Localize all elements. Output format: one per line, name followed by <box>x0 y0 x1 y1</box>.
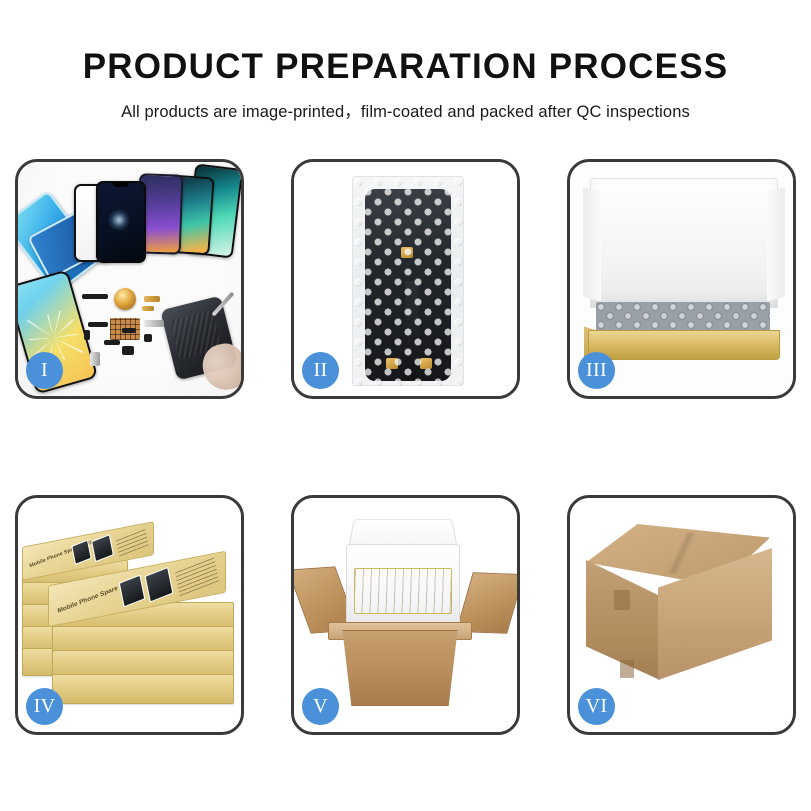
bubble-highlight-layer <box>353 177 463 385</box>
process-steps-grid: I II III <box>15 159 796 735</box>
flex-cable-part-icon <box>88 322 108 327</box>
white-box-lid-icon <box>590 178 778 308</box>
small-part-icon-d <box>122 328 136 333</box>
lid-product-photo-f1 <box>119 574 146 607</box>
screen-crack-icon <box>106 207 132 233</box>
gold-box-stack-icon: Mobile Phone Spare Parts Mobile Phone Sp… <box>22 516 238 716</box>
lid-spec-lines-front <box>175 556 219 596</box>
step-badge-5: V <box>302 688 339 725</box>
small-part-icon-c <box>144 334 152 342</box>
step-panel-2[interactable]: II <box>291 159 520 399</box>
gold-coil-part-icon <box>114 288 136 310</box>
step-panel-5[interactable]: V <box>291 495 520 735</box>
page-header: PRODUCT PREPARATION PROCESS All products… <box>0 0 811 122</box>
gold-box-layer-f4 <box>52 674 234 704</box>
gold-clip-part-icon <box>142 306 154 311</box>
gold-bracket-part-icon <box>144 296 160 302</box>
lid-product-photo-b2 <box>91 534 114 562</box>
small-part-icon-a <box>84 330 90 340</box>
carton-tape-upper-icon <box>614 590 630 610</box>
step-panel-3[interactable]: III <box>567 159 796 399</box>
phone-notch-icon <box>113 183 129 187</box>
black-cracked-screen-icon <box>96 181 146 263</box>
small-part-icon-b <box>104 340 120 345</box>
step-badge-6: VI <box>578 688 615 725</box>
lid-product-photo-f2 <box>145 567 174 603</box>
open-brown-carton-icon <box>336 630 464 706</box>
page-title: PRODUCT PREPARATION PROCESS <box>0 0 811 87</box>
step-badge-1: I <box>26 352 63 389</box>
step-badge-3: III <box>578 352 615 389</box>
step-badge-4: IV <box>26 688 63 725</box>
carton-tape-lower-icon <box>620 660 634 678</box>
sim-tray-icon <box>90 352 100 366</box>
step-panel-6[interactable]: VI <box>567 495 796 735</box>
lid-product-photo-b1 <box>71 540 92 565</box>
step-panel-1[interactable]: I <box>15 159 244 399</box>
step-panel-4[interactable]: Mobile Phone Spare Parts Mobile Phone Sp… <box>15 495 244 735</box>
step-badge-2: II <box>302 352 339 389</box>
gold-boxes-inside-foam-icon <box>354 568 452 614</box>
bubble-wrap-bag-icon <box>352 176 464 386</box>
page-subtitle: All products are image-printed，film-coat… <box>0 87 811 122</box>
camera-module-icon <box>122 346 134 355</box>
lid-spec-lines-back <box>115 526 148 556</box>
metal-bracket-icon <box>144 320 164 327</box>
speaker-part-icon <box>82 294 108 299</box>
gold-box-front-panel-icon <box>588 330 780 360</box>
